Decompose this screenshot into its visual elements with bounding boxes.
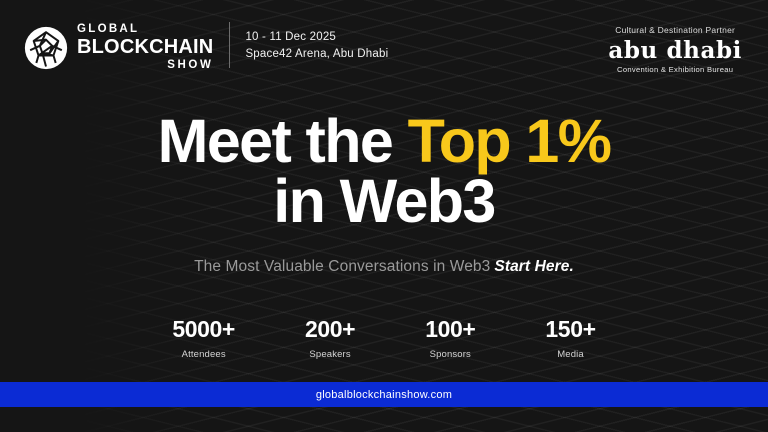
- banner-header: GLOBAL BLOCKCHAIN SHOW 10 - 11 Dec 2025 …: [0, 0, 768, 90]
- event-venue: Space42 Arena, Abu Dhabi: [245, 48, 388, 60]
- headline-plain-text: Meet the: [158, 107, 408, 175]
- website-url[interactable]: globalblockchainshow.com: [316, 389, 452, 401]
- promo-banner: GLOBAL BLOCKCHAIN SHOW 10 - 11 Dec 2025 …: [0, 0, 768, 432]
- stat-label: Media: [545, 349, 595, 360]
- footer-url-bar[interactable]: globalblockchainshow.com: [0, 382, 768, 407]
- headline-line-1: Meet the Top 1%: [0, 112, 768, 172]
- stat-item-sponsors: 100+ Sponsors: [425, 318, 475, 360]
- subtitle-accent-text: Start Here.: [494, 258, 574, 275]
- event-details: 10 - 11 Dec 2025 Space42 Arena, Abu Dhab…: [245, 31, 388, 60]
- headline-line-2: in Web3: [0, 172, 768, 232]
- wordmark-blockchain: BLOCKCHAIN: [77, 37, 213, 57]
- wordmark-show: SHOW: [167, 60, 213, 72]
- brand-wordmark: GLOBAL BLOCKCHAIN SHOW: [77, 24, 213, 71]
- stat-label: Speakers: [305, 349, 355, 360]
- event-date: 10 - 11 Dec 2025: [245, 31, 388, 43]
- wordmark-global: GLOBAL: [77, 24, 139, 36]
- partner-logo-abu-dhabi: Cultural & Destination Partner abu dhabi…: [608, 26, 742, 73]
- stat-value: 100+: [425, 318, 475, 341]
- hero-section: Meet the Top 1% in Web3 The Most Valuabl…: [0, 112, 768, 276]
- header-divider: [229, 22, 230, 68]
- faceted-sphere-icon: [24, 26, 68, 70]
- partner-subtitle: Convention & Exhibition Bureau: [617, 66, 733, 74]
- headline-accent-text: Top 1%: [408, 107, 611, 175]
- stat-item-speakers: 200+ Speakers: [305, 318, 355, 360]
- stat-item-attendees: 5000+ Attendees: [172, 318, 235, 360]
- brand-logo-lockup[interactable]: GLOBAL BLOCKCHAIN SHOW: [24, 24, 213, 71]
- subtitle-plain-text: The Most Valuable Conversations in Web3: [194, 258, 490, 275]
- stat-label: Sponsors: [425, 349, 475, 360]
- stat-value: 5000+: [172, 318, 235, 341]
- stat-value: 150+: [545, 318, 595, 341]
- hero-subtitle: The Most Valuable Conversations in Web3S…: [0, 258, 768, 276]
- stat-value: 200+: [305, 318, 355, 341]
- partner-kicker: Cultural & Destination Partner: [615, 26, 735, 35]
- stat-item-media: 150+ Media: [545, 318, 595, 360]
- stats-row: 5000+ Attendees 200+ Speakers 100+ Spons…: [0, 318, 768, 360]
- partner-name: abu dhabi: [608, 39, 742, 62]
- stat-label: Attendees: [172, 349, 235, 360]
